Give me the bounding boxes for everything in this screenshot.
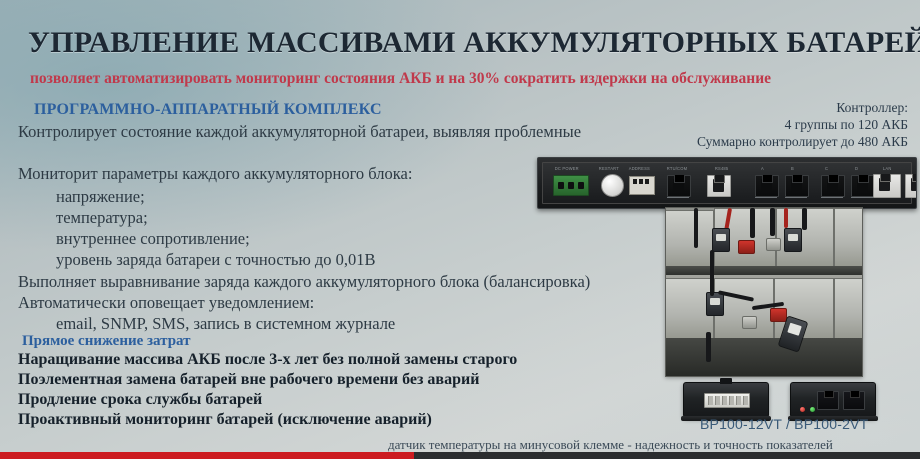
page-title: УПРАВЛЕНИЕ МАССИВАМИ АККУМУЛЯТОРНЫХ БАТА… xyxy=(28,26,828,60)
module-bp100-12vt xyxy=(683,382,769,418)
body-line: Автоматически оповещает уведомлением: xyxy=(18,293,314,313)
body-line: напряжение; xyxy=(56,187,145,207)
rtu-com-port xyxy=(667,175,691,197)
body-line: температура; xyxy=(56,208,148,228)
controller-front-panel: DC POWER RESTART ADDRESS RTU/COM RS485 A… xyxy=(542,162,912,204)
battery-sensor-module xyxy=(784,228,802,252)
group-port-c xyxy=(821,175,845,197)
port-label-d: D xyxy=(855,166,858,171)
presentation-slide: УПРАВЛЕНИЕ МАССИВАМИ АККУМУЛЯТОРНЫХ БАТА… xyxy=(0,0,920,459)
group-port-b xyxy=(785,175,809,197)
port-label-c: C xyxy=(825,166,828,171)
port-label-dc-power: DC POWER xyxy=(555,166,579,171)
controller-spec-line: Суммарно контролирует до 480 АКБ xyxy=(697,134,908,150)
battery-cabinet-photo xyxy=(665,207,863,377)
port-label-restart: RESTART xyxy=(599,166,619,171)
module-rj45-port xyxy=(843,391,865,410)
model-label: BP100-12VT / BP100-2VT xyxy=(700,416,868,432)
port-label-rtu-com: RTU/COM xyxy=(667,166,687,171)
benefit-line: Наращивание массива АКБ после 3-х лет бе… xyxy=(18,351,517,369)
body-line: Контролирует состояние каждой аккумулято… xyxy=(18,122,581,142)
terminal-block-connector xyxy=(704,393,750,408)
restart-button[interactable] xyxy=(601,174,624,197)
section-heading: ПРОГРАММНО-АППАРАТНЫЙ КОМПЛЕКС xyxy=(34,101,382,119)
slide-subtitle: позволяет автоматизировать мониторинг со… xyxy=(30,70,900,88)
battery-sensor-module xyxy=(706,292,724,316)
footer-note: датчик температуры на минусовой клемме -… xyxy=(388,437,833,453)
controller-spec-line: 4 группы по 120 АКБ xyxy=(785,117,908,133)
sync-port xyxy=(873,174,901,198)
body-line: Мониторит параметры каждого аккумуляторн… xyxy=(18,164,412,184)
dc-power-terminal xyxy=(553,175,589,196)
port-label-address: ADDRESS xyxy=(629,166,650,171)
rs485-port xyxy=(707,175,731,197)
group-port-d xyxy=(851,175,875,197)
group-port-a xyxy=(755,175,779,197)
port-label-rs485: RS485 xyxy=(715,166,728,171)
benefit-line: Проактивный мониторинг батарей (исключен… xyxy=(18,411,432,429)
body-line: внутреннее сопротивление; xyxy=(56,229,250,249)
address-dip-switch[interactable] xyxy=(629,176,655,195)
video-progress-fill xyxy=(0,452,414,459)
video-progress-bar[interactable] xyxy=(0,452,920,459)
controller-spec-line: Контроллер: xyxy=(836,100,908,116)
led-green xyxy=(810,407,815,412)
body-line: Выполняет выравнивание заряда каждого ак… xyxy=(18,272,590,292)
battery-sensor-module xyxy=(712,228,730,252)
benefits-heading: Прямое снижение затрат xyxy=(22,333,191,350)
body-line: уровень заряда батареи с точностью до 0,… xyxy=(56,250,376,270)
port-label-a: A xyxy=(761,166,764,171)
module-bp100-2vt xyxy=(790,382,876,418)
body-line: email, SNMP, SMS, запись в системном жур… xyxy=(56,314,395,334)
led-red xyxy=(800,407,805,412)
controller-device-photo: DC POWER RESTART ADDRESS RTU/COM RS485 A… xyxy=(537,157,917,209)
benefit-line: Поэлементная замена батарей вне рабочего… xyxy=(18,371,479,389)
port-label-lan: LAN xyxy=(883,166,892,171)
module-rj45-port xyxy=(817,391,839,410)
port-label-b: B xyxy=(791,166,794,171)
benefit-line: Продление срока службы батарей xyxy=(18,391,262,409)
lan-port xyxy=(905,174,917,198)
